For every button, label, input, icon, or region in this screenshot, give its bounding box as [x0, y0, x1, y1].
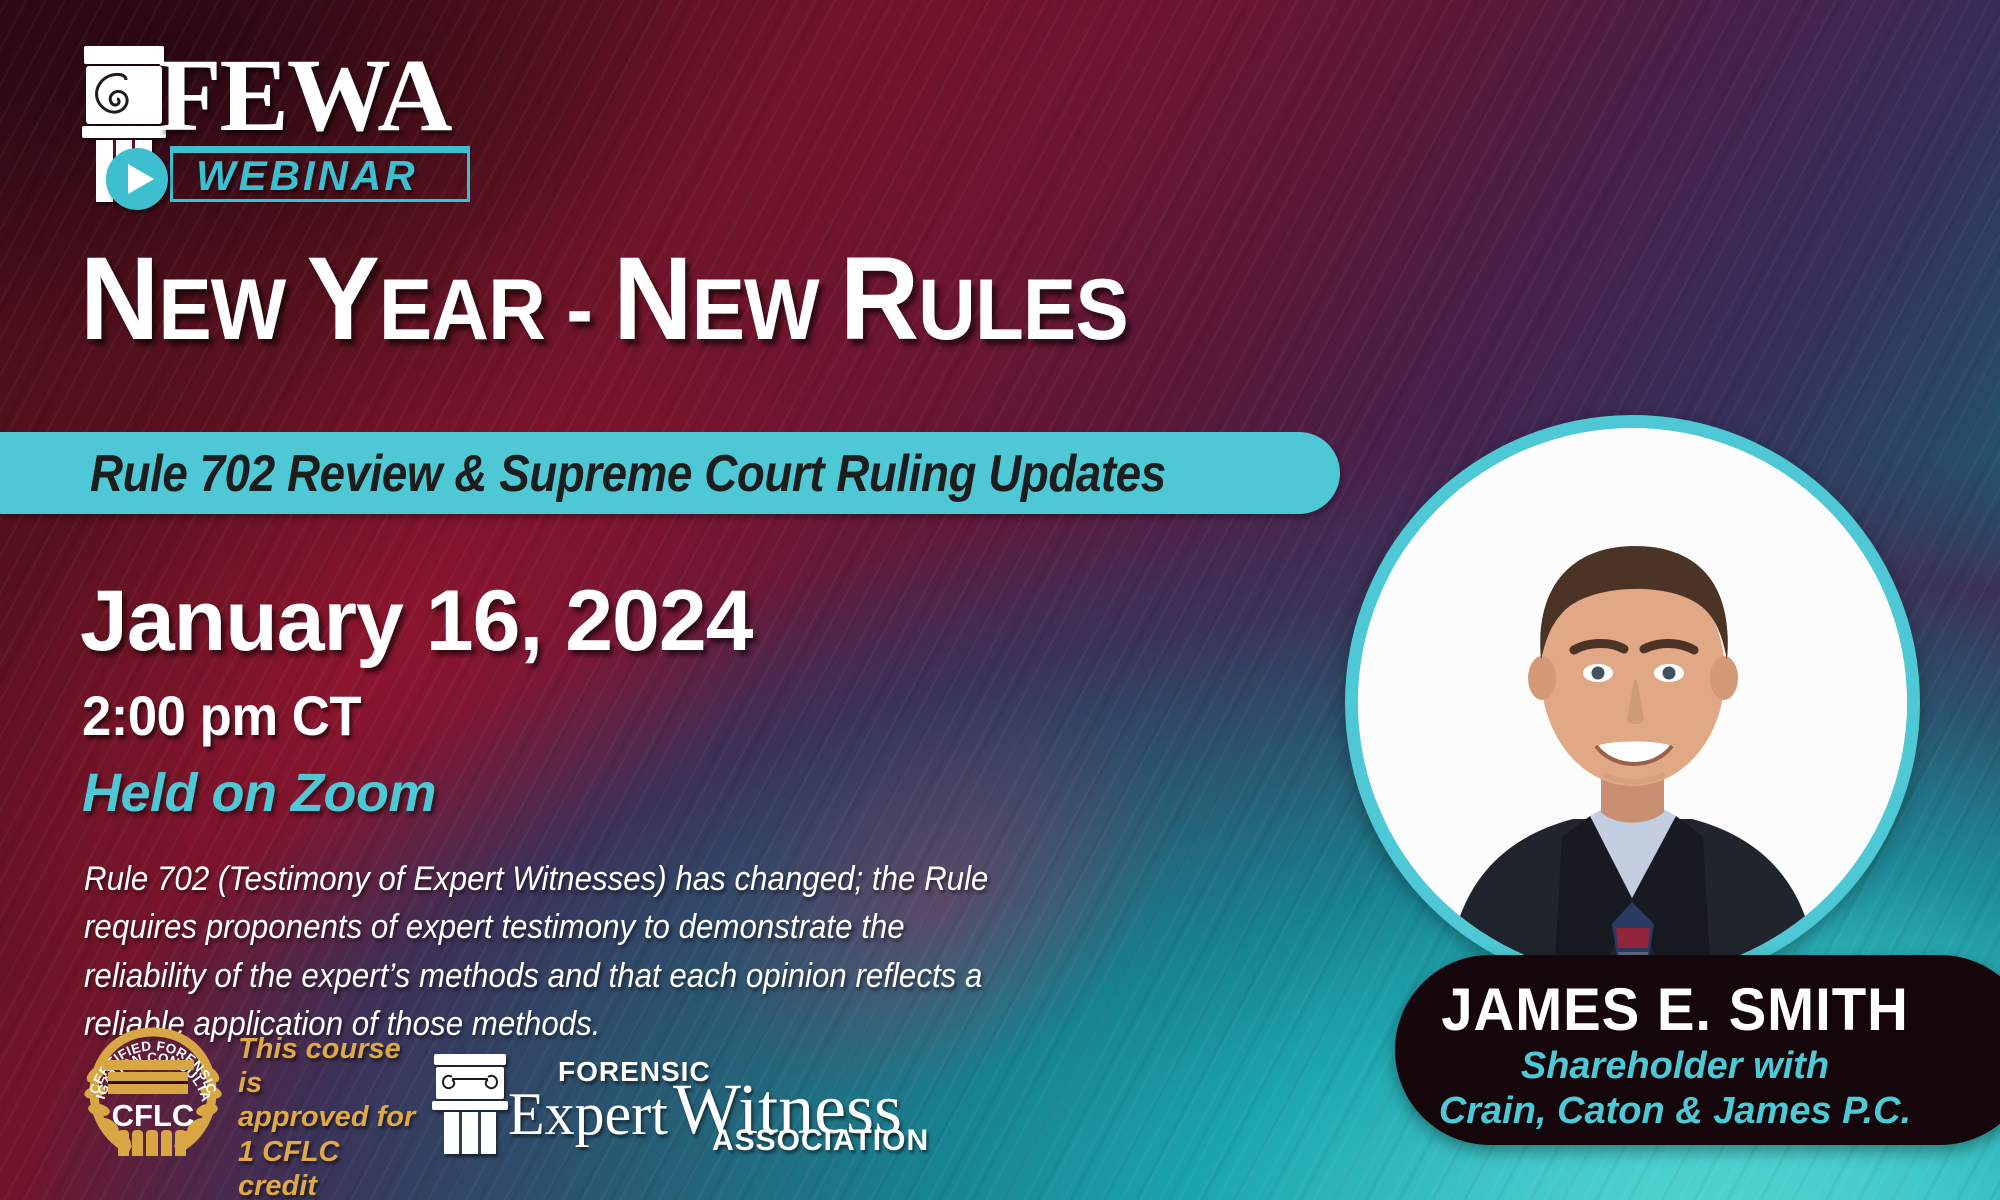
credit-line-3: 1 CFLC credit [238, 1135, 418, 1200]
title-seg: N [80, 233, 158, 365]
webinar-promo-graphic: FEWA WEBINAR NEW YEAR - NEW RULES Rule 7… [0, 0, 2000, 1200]
assoc-word-association: ASSOCIATION [712, 1124, 929, 1158]
cflc-credit-text: This course is approved for 1 CFLC credi… [238, 1032, 418, 1200]
avatar [1358, 428, 1907, 977]
speaker-role-line-2: Crain, Caton & James P.C. [1395, 1089, 1955, 1134]
title-dash: - [545, 262, 613, 358]
ionic-column-icon [430, 1054, 510, 1148]
play-icon [106, 148, 168, 210]
subtitle-text: Rule 702 Review & Supreme Court Ruling U… [90, 441, 1190, 507]
event-time: 2:00 pm CT [82, 683, 361, 748]
title-seg: R [840, 233, 918, 365]
title-seg: ULES [918, 262, 1128, 358]
credit-line-2: approved for [238, 1100, 418, 1134]
assoc-word-expert: Expert [508, 1080, 668, 1149]
title-seg: EW [692, 262, 840, 358]
title-seg: EAR [379, 262, 545, 358]
volute-spiral-icon [92, 72, 138, 118]
fewa-association-logo: FORENSIC Expert Witness ASSOCIATION [430, 1040, 900, 1160]
page-title: NEW YEAR - NEW RULES [80, 245, 1159, 354]
title-seg: Y [307, 233, 379, 365]
speaker-headshot-illustration [1358, 428, 1907, 977]
badge-column-flutes [118, 1130, 186, 1156]
credit-line-1: This course is [238, 1032, 418, 1100]
speaker-name: JAMES E. SMITH [1412, 975, 1938, 1044]
fewa-webinar-logo: FEWA WEBINAR [78, 38, 478, 203]
speaker-role: Shareholder with Crain, Caton & James P.… [1395, 1044, 1955, 1134]
speaker-role-line-1: Shareholder with [1395, 1044, 1955, 1089]
event-platform: Held on Zoom [82, 762, 436, 824]
webinar-label: WEBINAR [196, 152, 418, 200]
title-seg: N [613, 233, 691, 365]
badge-column-capital [108, 1072, 188, 1094]
title-seg: EW [158, 262, 306, 358]
volute-spiral-icon [436, 1067, 504, 1099]
event-date: January 16, 2024 [80, 572, 753, 671]
badge-abbrev-label: CFLC [78, 1098, 228, 1134]
cflc-badge-icon: CERTIFIED FORENSIC LITIGATION CONSULTANT… [78, 1018, 228, 1158]
badge-column-abacus [102, 1060, 194, 1070]
fewa-wordmark: FEWA [158, 44, 450, 148]
